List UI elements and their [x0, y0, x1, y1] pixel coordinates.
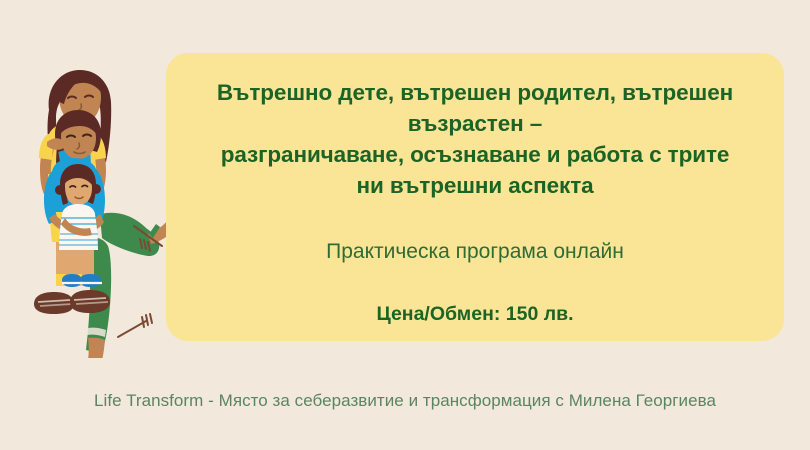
- poster-canvas: Вътрешно дете, вътрешен родител, вътреше…: [0, 0, 810, 450]
- three-nested-figures-illustration: [8, 38, 176, 358]
- headline-line-3: разграничаване, осъзнаване и работа с тр…: [192, 139, 758, 170]
- headline-line-4: ни вътрешни аспекта: [192, 170, 758, 201]
- footer-brand-line: Life Transform - Място за себеразвитие и…: [0, 389, 810, 413]
- kicking-leg-group: [100, 213, 176, 256]
- price-label: Цена/Обмен: 150 лв.: [192, 265, 758, 326]
- content-card: Вътрешно дете, вътрешен родител, вътреше…: [166, 53, 784, 341]
- headline-line-1: Вътрешно дете, вътрешен родител, вътреше…: [192, 77, 758, 108]
- headline: Вътрешно дете, вътрешен родител, вътреше…: [192, 77, 758, 201]
- brown-shoes-group: [34, 290, 110, 314]
- program-subtitle: Практическа програма онлайн: [192, 201, 758, 265]
- headline-line-2: възрастен –: [192, 108, 758, 139]
